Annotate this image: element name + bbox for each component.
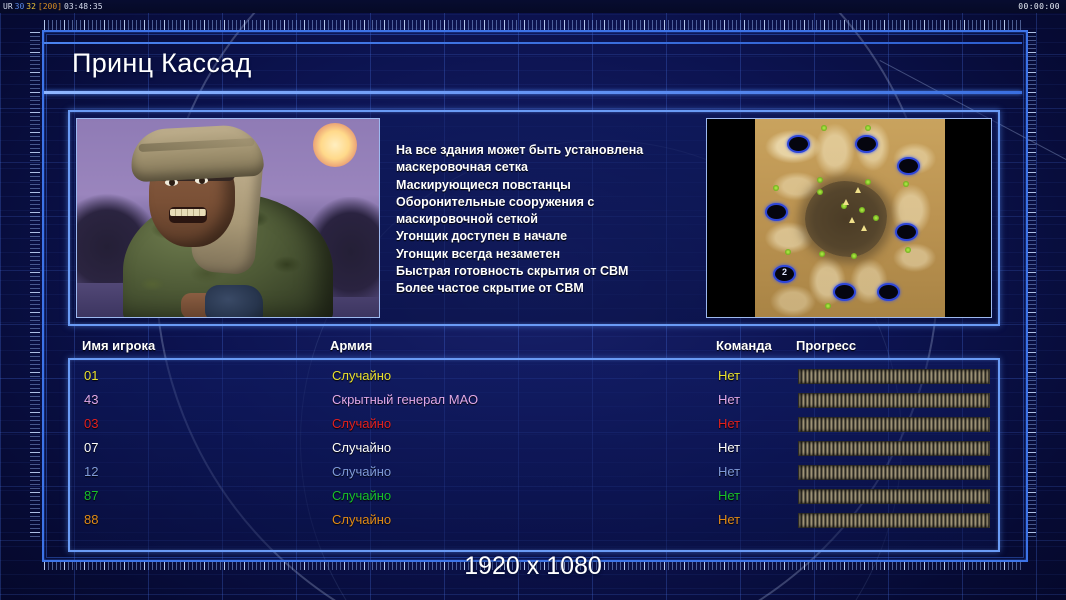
description-line-7: Быстрая готовность скрытия от СВМ: [396, 263, 696, 280]
player-army[interactable]: Случайно: [332, 508, 391, 532]
map-resource: [821, 125, 827, 131]
map-resource: [819, 251, 825, 257]
map-spawn-point: [765, 203, 788, 221]
map-preview[interactable]: 2: [706, 118, 992, 318]
status-seg-1: 30: [14, 2, 26, 11]
player-team[interactable]: Нет: [718, 484, 740, 508]
player-army[interactable]: Случайно: [332, 412, 391, 436]
player-progress-bar: [798, 513, 990, 528]
player-name: 12: [84, 460, 98, 484]
player-army[interactable]: Случайно: [332, 484, 391, 508]
map-spawn-label: 2: [782, 267, 787, 277]
table-row[interactable]: 03 Случайно Нет: [70, 412, 998, 436]
header-progress: Прогресс: [796, 338, 856, 353]
player-progress-bar: [798, 441, 990, 456]
general-portrait: [76, 118, 380, 318]
table-row[interactable]: 07 Случайно Нет: [70, 436, 998, 460]
map-resource: [773, 185, 779, 191]
player-list-panel: 01 Случайно Нет 43 Скрытный генерал МАО …: [68, 358, 1000, 552]
header-player-name: Имя игрока: [82, 338, 155, 353]
portrait-headwrap: [130, 124, 265, 183]
header-team: Команда: [716, 338, 772, 353]
description-line-4: маскировочной сеткой: [396, 211, 696, 228]
ruler-top: [44, 20, 1022, 30]
player-team[interactable]: Нет: [718, 460, 740, 484]
player-name: 03: [84, 412, 98, 436]
map-spawn-point: [895, 223, 918, 241]
map-spawn-point-2: 2: [773, 265, 796, 283]
status-bar-left: UR3032[200]03:48:35: [2, 0, 104, 13]
description-line-5: Угонщик доступен в начале: [396, 228, 696, 245]
title-bar: Принц Кассад: [44, 42, 1022, 94]
player-progress-bar: [798, 369, 990, 384]
map-unit-marker: [843, 199, 849, 205]
map-unit-marker: [855, 187, 861, 193]
map-resource: [817, 189, 823, 195]
status-seg-4: 03:48:35: [63, 2, 104, 11]
page-title: Принц Кассад: [72, 48, 252, 79]
map-spawn-point: [897, 157, 920, 175]
player-progress-bar: [798, 489, 990, 504]
table-row[interactable]: 87 Случайно Нет: [70, 484, 998, 508]
player-team[interactable]: Нет: [718, 388, 740, 412]
map-spawn-point: [855, 135, 878, 153]
sun-icon: [313, 123, 357, 167]
portrait-teeth: [170, 209, 206, 216]
status-bar: UR3032[200]03:48:35 00:00:00: [0, 0, 1066, 13]
map-resource: [851, 253, 857, 259]
status-seg-2: 32: [25, 2, 37, 11]
status-seg-3: [200]: [37, 2, 63, 11]
player-list-header: Имя игрока Армия Команда Прогресс: [68, 338, 996, 358]
resolution-label: 1920 x 1080: [0, 552, 1066, 581]
player-army[interactable]: Случайно: [332, 436, 391, 460]
status-clock: 00:00:00: [1018, 0, 1060, 13]
map-spawn-point: [833, 283, 856, 301]
description-line-8: Более частое скрытие от СВМ: [396, 280, 696, 297]
description-line-0: На все здания может быть установлена: [396, 142, 696, 159]
player-army[interactable]: Случайно: [332, 364, 391, 388]
map-spawn-point: [787, 135, 810, 153]
map-unit-marker: [849, 217, 855, 223]
player-progress-bar: [798, 393, 990, 408]
map-resource: [903, 181, 909, 187]
player-team[interactable]: Нет: [718, 436, 740, 460]
map-resource: [817, 177, 823, 183]
player-progress-bar: [798, 465, 990, 480]
title-bar-bottom-rule: [44, 91, 1022, 94]
player-army[interactable]: Скрытный генерал МАО: [332, 388, 478, 412]
map-resource: [865, 125, 871, 131]
general-info-panel: На все здания может быть установлена мас…: [68, 110, 1000, 326]
header-army: Армия: [330, 338, 372, 353]
map-resource: [905, 247, 911, 253]
player-name: 43: [84, 388, 98, 412]
map-resource: [873, 215, 879, 221]
game-lobby-screen: UR3032[200]03:48:35 00:00:00 Принц Касса…: [0, 0, 1066, 600]
table-row[interactable]: 88 Случайно Нет: [70, 508, 998, 532]
general-description: На все здания может быть установлена мас…: [396, 142, 696, 298]
player-name: 07: [84, 436, 98, 460]
description-line-1: маскеровочная сетка: [396, 159, 696, 176]
map-resource: [859, 207, 865, 213]
description-line-3: Оборонительные сооружения с: [396, 194, 696, 211]
title-bar-top-rule: [44, 42, 1022, 44]
player-name: 88: [84, 508, 98, 532]
player-name: 87: [84, 484, 98, 508]
description-line-6: Угонщик всегда незаметен: [396, 246, 696, 263]
map-unit-marker: [861, 225, 867, 231]
player-team[interactable]: Нет: [718, 412, 740, 436]
player-team[interactable]: Нет: [718, 364, 740, 388]
ruler-left: [30, 32, 40, 538]
portrait-mouth: [169, 207, 207, 223]
table-row[interactable]: 43 Скрытный генерал МАО Нет: [70, 388, 998, 412]
table-row[interactable]: 12 Случайно Нет: [70, 460, 998, 484]
map-resource: [825, 303, 831, 309]
map-spawn-point: [877, 283, 900, 301]
player-progress-bar: [798, 417, 990, 432]
player-army[interactable]: Случайно: [332, 460, 391, 484]
player-team[interactable]: Нет: [718, 508, 740, 532]
portrait-weapon: [205, 285, 263, 318]
map-terrain: 2: [755, 119, 945, 317]
map-resource: [785, 249, 791, 255]
description-line-2: Маскирующиеся повстанцы: [396, 177, 696, 194]
status-seg-0: UR: [2, 2, 14, 11]
table-row[interactable]: 01 Случайно Нет: [70, 364, 998, 388]
player-name: 01: [84, 364, 98, 388]
map-resource: [865, 179, 871, 185]
